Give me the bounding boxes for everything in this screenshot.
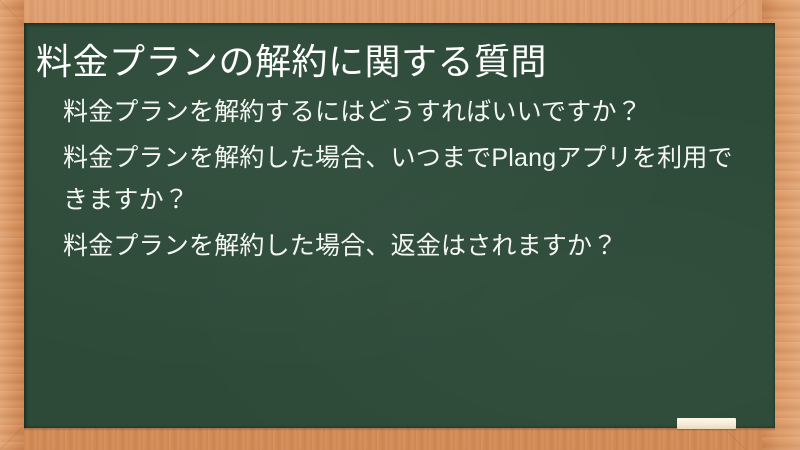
list-item: 料金プランを解約するにはどうすればいいですか？ [63,91,749,133]
chalk-stick [677,418,736,429]
list-item: 料金プランを解約した場合、いつまでPlangアプリを利用できますか？ [63,137,749,221]
list-item: 料金プランを解約した場合、返金はされますか？ [63,225,749,267]
board-ledge-shadow [24,428,775,431]
page-title: 料金プランの解約に関する質問 [36,39,763,85]
chalkboard-surface: 料金プランの解約に関する質問 料金プランを解約するにはどうすればいいですか？ 料… [24,23,775,428]
question-list: 料金プランを解約するにはどうすればいいですか？ 料金プランを解約した場合、いつま… [30,91,763,267]
frame-rail-left [0,0,24,450]
board-content: 料金プランの解約に関する質問 料金プランを解約するにはどうすればいいですか？ 料… [24,23,775,428]
chalkboard-slide: 料金プランの解約に関する質問 料金プランを解約するにはどうすればいいですか？ 料… [0,0,800,450]
